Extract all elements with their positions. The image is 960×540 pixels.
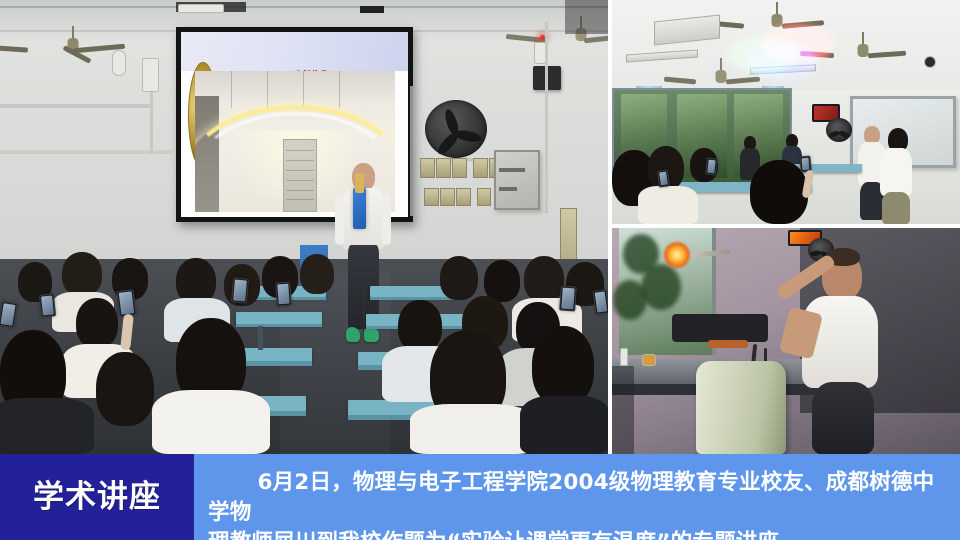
desk [236,312,322,324]
caption-bar: 学术讲座 6月2日，物理与电子工程学院2004级物理教育专业校友、成都树德中学物… [0,454,960,540]
audience-head [96,352,154,426]
heating-coil [708,340,748,348]
audience-phone [275,282,292,307]
electrical-panel [494,150,540,210]
poster-page: 四川师范大学 自制教具 [0,0,960,540]
lab-bottle [620,348,628,366]
demo-apparatus [696,361,786,454]
lecturer-figure [790,252,890,454]
audience-head [300,254,334,294]
ceiling-line [0,6,608,8]
presenter-body [880,148,912,196]
demo-equipment [672,314,768,342]
photo-rgb-color-mixing [612,0,960,224]
caption-badge-label: 学术讲座 [33,482,161,513]
desk-leg [258,326,263,350]
ceiling-fixture [360,6,384,13]
acoustic-block [456,188,471,206]
acoustic-block [473,158,488,178]
photo-heat-demonstration [612,228,960,454]
audience-head [76,298,118,348]
projector-mount [178,4,224,13]
wall-sensor [112,50,126,76]
wall-shadow [565,0,608,34]
lab-item [642,354,656,366]
conduit [0,150,172,153]
camera-icon [924,56,936,68]
presenter-legs [882,192,910,224]
caption-text: 6月2日，物理与电子工程学院2004级物理教育专业校友、成都树德中学物 理教师屈… [194,454,960,540]
audience-phone [657,169,670,187]
audience-body [152,390,270,454]
wall-control-box [142,58,159,92]
conduit [410,86,413,216]
audience-head [62,252,102,296]
audience-phone [116,289,136,317]
conduit [0,104,150,107]
acoustic-block [477,188,491,206]
caption-line-2: 理教师屈川到我校作题为“实验让课堂更有温度”的专题讲座。 [208,528,946,540]
caption-badge: 学术讲座 [0,454,194,540]
audience-phone [39,293,56,317]
caption-line-1-text: 6月2日，物理与电子工程学院2004级物理教育专业校友、成都树德中学物 [208,470,934,525]
conduit [150,92,153,152]
slide-header [181,32,408,71]
audience-phone [592,289,608,315]
audience-head [440,256,478,300]
audience-head [750,160,808,224]
audience-body [410,404,534,454]
conduit [545,22,548,212]
ceiling-fan-icon [734,2,820,24]
flame-glow [664,242,690,268]
caption-line-1: 6月2日，物理与电子工程学院2004级物理教育专业校友、成都树德中学物 [208,468,946,528]
audience-phone [559,285,577,311]
acoustic-block [436,158,451,178]
wall-fan-icon [826,118,852,142]
acoustic-block [452,158,467,178]
ceiling-fan-icon [18,26,128,56]
audience-head [398,300,442,352]
blue-light-blob [746,42,818,80]
audience-body [638,186,698,224]
slide-photo-ceiling [195,71,395,108]
audience-phone [231,277,249,303]
photo-lecture-hall: 四川师范大学 自制教具 [0,0,608,454]
audience-body [0,398,94,454]
audience-head [532,326,594,406]
slide-photo-cabinet [283,139,317,212]
ceiling-fan-icon [824,32,902,54]
acoustic-block [420,158,435,178]
audience-phone [705,157,718,175]
foreground-shadow [612,366,634,454]
audience-head [524,256,564,302]
wall-fan-icon [425,100,487,158]
audience-body [520,396,608,454]
acoustic-block [440,188,455,206]
acoustic-block [424,188,439,206]
